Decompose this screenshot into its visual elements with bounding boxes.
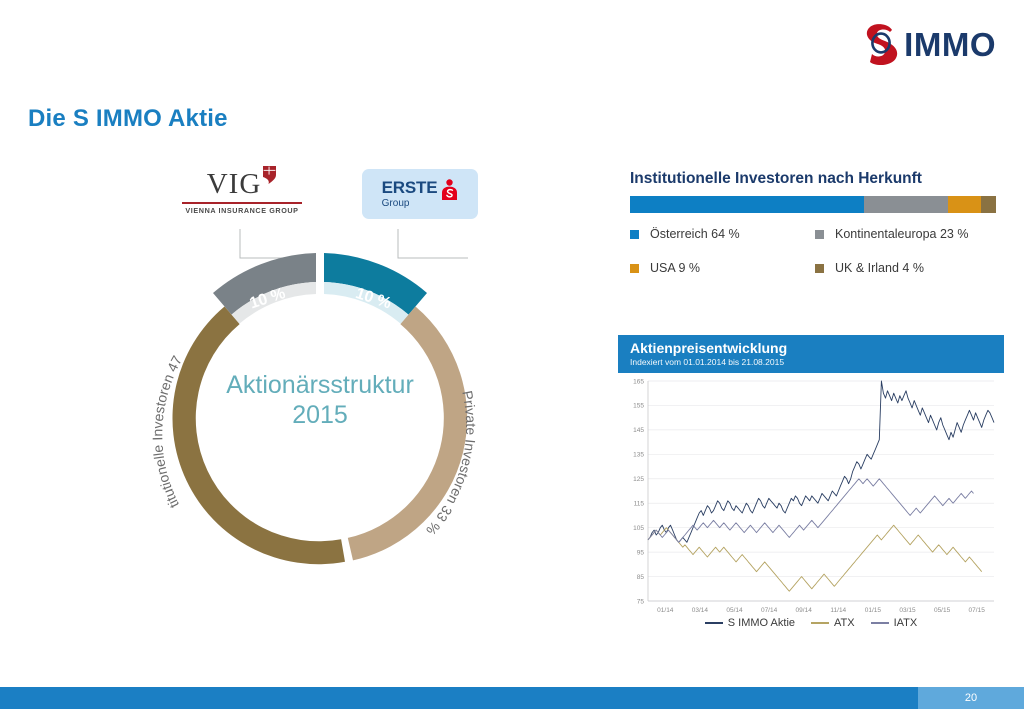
y-tick-label: 135 <box>633 452 644 459</box>
legend-swatch-europe <box>815 230 824 239</box>
stock-panel-header: Aktienpreisentwicklung Indexiert vom 01.… <box>618 335 1004 373</box>
stock-panel-subtitle: Indexiert vom 01.01.2014 bis 21.08.2015 <box>630 357 994 367</box>
origin-panel-title: Institutionelle Investoren nach Herkunft <box>630 170 996 188</box>
y-tick-label: 105 <box>633 525 644 532</box>
legend-item-europe: Kontinentaleuropa 23 % <box>815 227 996 241</box>
vig-divider <box>182 202 302 204</box>
x-tick-label: 07/15 <box>969 607 986 614</box>
legend-item-austria: Österreich 64 % <box>630 227 815 241</box>
x-tick-label: 05/15 <box>934 607 951 614</box>
institutional-origin-panel: Institutionelle Investoren nach Herkunft… <box>630 170 996 275</box>
vig-logo-name: VIG <box>207 170 262 199</box>
x-tick-label: 01/14 <box>657 607 674 614</box>
page-number: 20 <box>918 687 1024 709</box>
y-tick-label: 115 <box>634 501 645 508</box>
x-tick-label: 03/15 <box>899 607 916 614</box>
origin-stacked-bar <box>630 196 996 213</box>
y-tick-label: 165 <box>633 378 644 385</box>
brand-logo: IMMO <box>862 22 996 66</box>
y-tick-label: 125 <box>633 476 644 483</box>
legend-swatch-usa <box>630 264 639 273</box>
legend-label-austria: Österreich 64 % <box>650 227 740 241</box>
footer-bar-main <box>0 687 918 709</box>
donut-label-institutional: Institutionelle Investoren 47 % <box>120 238 185 511</box>
stock-plot-area: 75859510511512513514515516501/1403/1405/… <box>618 373 1004 623</box>
legend-item-usa: USA 9 % <box>630 261 815 275</box>
origin-bar-segment-europe <box>864 196 948 213</box>
legend-label-europe: Kontinentaleuropa 23 % <box>835 227 968 241</box>
donut-center-title: Aktionärsstruktur <box>226 371 414 399</box>
y-tick-label: 75 <box>637 598 645 605</box>
y-tick-label: 85 <box>637 574 645 581</box>
brand-logo-word: IMMO <box>904 28 996 61</box>
origin-bar-segment-uk <box>981 196 996 213</box>
legend-swatch-uk <box>815 264 824 273</box>
y-tick-label: 95 <box>637 550 645 557</box>
origin-bar-segment-usa <box>948 196 981 213</box>
page-title: Die S IMMO Aktie <box>28 105 228 133</box>
donut-center-year: 2015 <box>292 401 348 429</box>
erste-sparkasse-icon <box>441 179 458 201</box>
erste-logo-group: Group <box>382 199 438 209</box>
stock-price-panel: Aktienpreisentwicklung Indexiert vom 01.… <box>618 335 1004 645</box>
origin-bar-segment-austria <box>630 196 864 213</box>
erste-logo: ERSTE Group <box>362 169 478 219</box>
x-tick-label: 05/14 <box>726 607 743 614</box>
series-line-iatx <box>648 479 974 543</box>
x-tick-label: 09/14 <box>796 607 813 614</box>
y-tick-label: 155 <box>633 403 644 410</box>
x-tick-label: 11/14 <box>830 607 846 614</box>
legend-item-uk: UK & Irland 4 % <box>815 261 996 275</box>
legend-swatch-austria <box>630 230 639 239</box>
x-tick-label: 07/14 <box>761 607 778 614</box>
x-tick-label: 01/15 <box>865 607 882 614</box>
vig-shield-icon <box>263 166 277 184</box>
origin-legend: Österreich 64 % Kontinentaleuropa 23 % U… <box>630 227 996 275</box>
stock-panel-title: Aktienpreisentwicklung <box>630 340 994 356</box>
footer-bar: 20 <box>0 687 1024 709</box>
erste-logo-name: ERSTE <box>382 179 438 196</box>
legend-label-uk: UK & Irland 4 % <box>835 261 924 275</box>
vig-logo: VIG VIENNA INSURANCE GROUP <box>178 170 306 215</box>
donut-segment-institutional <box>172 307 345 565</box>
vig-logo-subtitle: VIENNA INSURANCE GROUP <box>178 206 306 215</box>
s-logo-icon <box>862 22 902 66</box>
y-tick-label: 145 <box>633 427 644 434</box>
shareholder-donut-chart: 10 % 10 % Private Investoren 33 % Instit… <box>120 238 520 598</box>
donut-segment-private <box>348 307 467 561</box>
legend-label-usa: USA 9 % <box>650 261 700 275</box>
series-line-atx <box>648 525 982 591</box>
x-tick-label: 03/14 <box>692 607 709 614</box>
